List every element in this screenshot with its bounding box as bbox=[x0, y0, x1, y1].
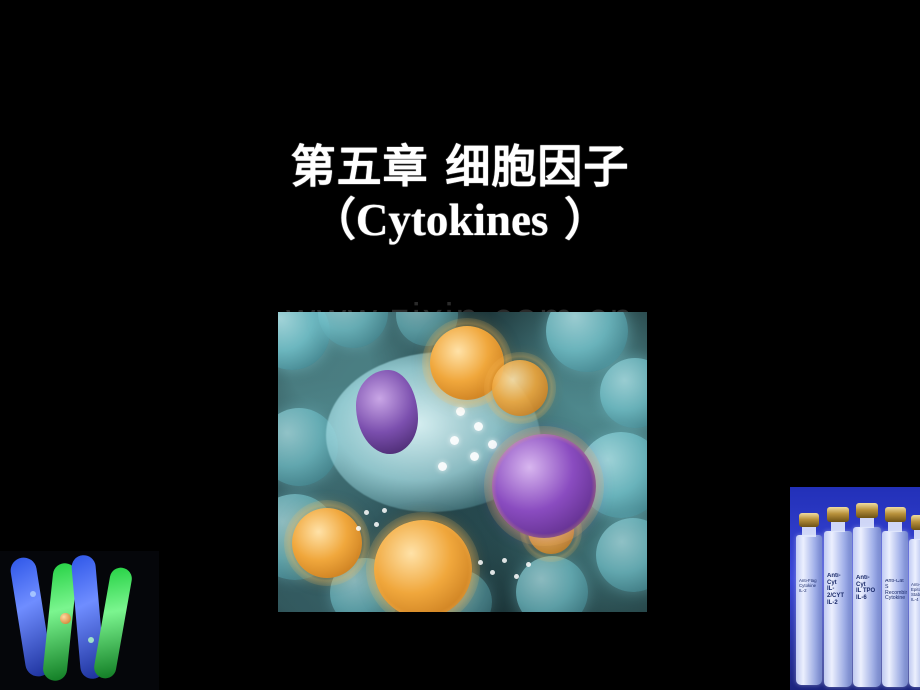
vial-cap bbox=[799, 513, 819, 527]
protein-ribbon-structure bbox=[0, 551, 159, 690]
title-line-chinese: 第五章 细胞因子 bbox=[0, 140, 920, 193]
cytokine-speck bbox=[364, 510, 369, 515]
granule bbox=[470, 452, 479, 461]
title-paren-open: （ bbox=[311, 193, 356, 246]
cytokine-speck bbox=[356, 526, 361, 531]
vial-label: Anti-Flag Cytokine IL-2 bbox=[799, 579, 820, 613]
orange-cell bbox=[492, 360, 548, 416]
atom-dot bbox=[88, 637, 94, 643]
granule bbox=[474, 422, 483, 431]
presentation-slide: www.zixin.com.cn 第五章 细胞因子 （Cytokines ） bbox=[0, 0, 920, 690]
vial-cap bbox=[827, 507, 849, 522]
granule bbox=[438, 462, 447, 471]
vial-label: Anti-Cyt IL-2/CYT IL-2 bbox=[827, 573, 850, 609]
orange-cell bbox=[374, 520, 472, 612]
purple-cell bbox=[492, 434, 596, 538]
cytokine-speck bbox=[526, 562, 531, 567]
title-paren-close: ） bbox=[548, 193, 609, 246]
slide-title: 第五章 细胞因子 （Cytokines ） bbox=[0, 140, 920, 247]
granule bbox=[450, 436, 459, 445]
cytokine-vials-photo: Anti-Flag Cytokine IL-2 Anti-Cyt IL-2/CY… bbox=[790, 487, 920, 690]
cytokine-speck bbox=[490, 570, 495, 575]
vial-label: Anti-Cat S Recombinant Cytokine bbox=[885, 579, 907, 615]
orange-cell bbox=[292, 508, 362, 578]
vial-cap bbox=[911, 515, 920, 530]
granule bbox=[488, 440, 497, 449]
cytokine-speck bbox=[382, 508, 387, 513]
cytokine-speck bbox=[478, 560, 483, 565]
ligand-sphere bbox=[60, 613, 71, 624]
title-cytokines: Cytokines bbox=[356, 195, 549, 245]
granule bbox=[456, 407, 465, 416]
cytokine-speck bbox=[502, 558, 507, 563]
atom-dot bbox=[30, 591, 36, 597]
vial-label: Anti-Cyt IL TPO IL-6 bbox=[856, 575, 879, 611]
vial-label: Anti-Epitope Stabilized IL-4 bbox=[911, 583, 920, 617]
vial bbox=[824, 531, 852, 687]
cytokine-speck bbox=[374, 522, 379, 527]
title-line-latin: （Cytokines ） bbox=[0, 193, 920, 247]
vial-cap bbox=[856, 503, 878, 518]
cytokine-speck bbox=[514, 574, 519, 579]
vial-cap bbox=[885, 507, 906, 522]
immune-cells-micrograph bbox=[278, 312, 647, 612]
